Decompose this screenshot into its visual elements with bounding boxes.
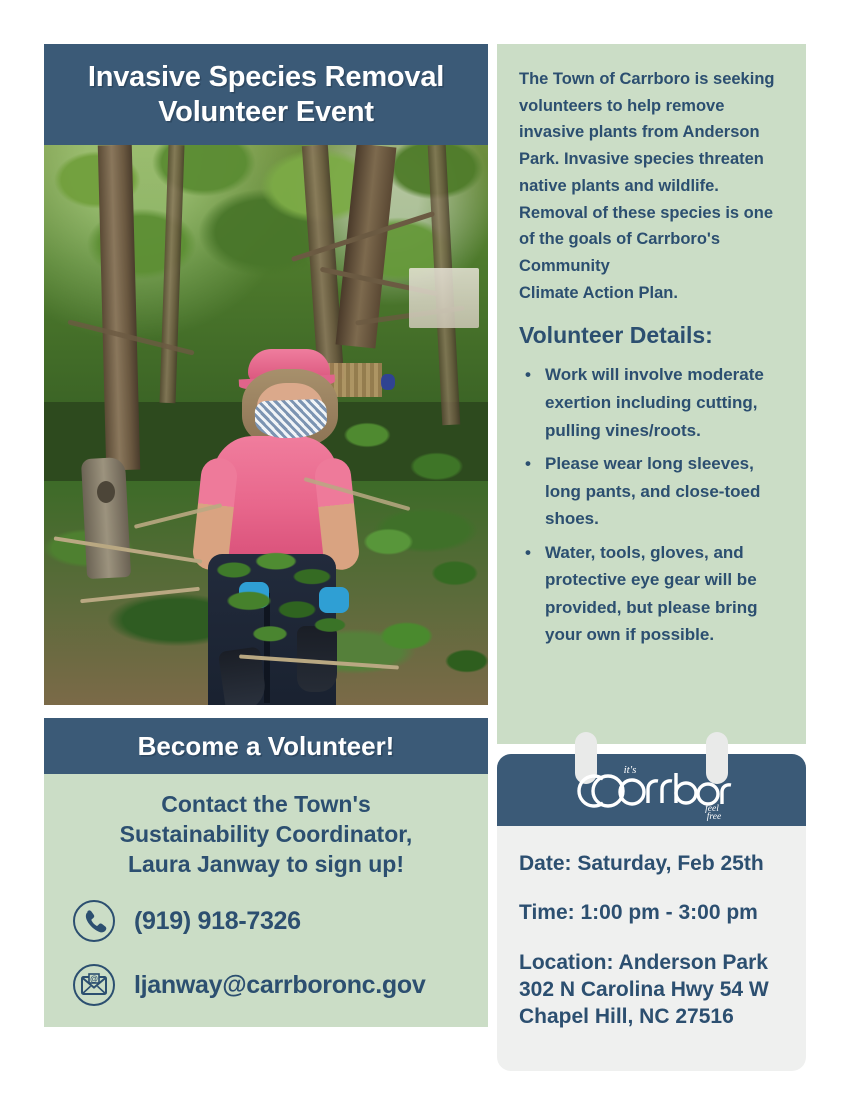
list-item: Water, tools, gloves, and protective eye… — [541, 539, 784, 649]
photo-tree-stump — [81, 457, 131, 579]
event-location-line-1: Location: Anderson Park — [519, 949, 784, 976]
phone-row[interactable]: (919) 918-7326 — [58, 899, 474, 943]
contact-lead-line-3: Laura Janway to sign up! — [58, 850, 474, 880]
contact-lead: Contact the Town's Sustainability Coordi… — [58, 790, 474, 880]
title-line-2: Volunteer Event — [62, 95, 470, 130]
right-column: The Town of Carrboro is seeking voluntee… — [497, 44, 806, 1071]
photo-cut-vines — [204, 548, 354, 658]
photo-shrub — [337, 391, 488, 705]
list-item: Please wear long sleeves, long pants, an… — [541, 450, 784, 533]
phone-number: (919) 918-7326 — [134, 907, 301, 936]
intro-paragraph: The Town of Carrboro is seeking voluntee… — [519, 66, 784, 306]
intro-line-2: Climate Action Plan. — [519, 284, 678, 302]
become-a-volunteer-banner: Become a Volunteer! — [44, 718, 488, 774]
svg-text:it's: it's — [623, 764, 636, 776]
event-details-panel: Date: Saturday, Feb 25th Time: 1:00 pm -… — [497, 826, 806, 1071]
email-row[interactable]: @ ljanway@carrboronc.gov — [58, 963, 474, 1007]
info-panel: The Town of Carrboro is seeking voluntee… — [497, 44, 806, 744]
title-banner: Invasive Species Removal Volunteer Event — [44, 44, 488, 145]
email-icon: @ — [72, 963, 116, 1007]
svg-text:free: free — [706, 811, 720, 821]
volunteer-details-list: Work will involve moderate exertion incl… — [519, 361, 784, 648]
volunteer-photo — [44, 145, 488, 705]
logo-banner: it's feel free — [497, 754, 806, 826]
cta-title: Become a Volunteer! — [54, 731, 478, 762]
volunteer-details-heading: Volunteer Details: — [519, 322, 784, 349]
title-line-1: Invasive Species Removal — [62, 60, 470, 95]
flyer-page: Invasive Species Removal Volunteer Event — [0, 0, 850, 1116]
svg-text:@: @ — [90, 975, 98, 984]
event-location: Location: Anderson Park 302 N Carolina H… — [519, 949, 784, 1031]
photo-house — [409, 268, 479, 328]
contact-panel: Contact the Town's Sustainability Coordi… — [44, 774, 488, 1028]
contact-lead-line-2: Sustainability Coordinator, — [58, 820, 474, 850]
left-column: Invasive Species Removal Volunteer Event — [44, 44, 488, 1027]
event-date: Date: Saturday, Feb 25th — [519, 850, 784, 877]
event-location-line-2: 302 N Carolina Hwy 54 W — [519, 976, 784, 1003]
event-location-line-3: Chapel Hill, NC 27516 — [519, 1003, 784, 1030]
photo-blue-object — [381, 374, 395, 390]
intro-line-1: The Town of Carrboro is seeking voluntee… — [519, 70, 774, 275]
email-address: ljanway@carrboronc.gov — [134, 971, 425, 1000]
photo-stump-knot — [97, 481, 115, 503]
carrboro-logo: it's feel free — [562, 759, 742, 821]
list-item: Work will involve moderate exertion incl… — [541, 361, 784, 444]
phone-icon — [72, 899, 116, 943]
contact-lead-line-1: Contact the Town's — [58, 790, 474, 820]
event-time: Time: 1:00 pm - 3:00 pm — [519, 899, 784, 926]
